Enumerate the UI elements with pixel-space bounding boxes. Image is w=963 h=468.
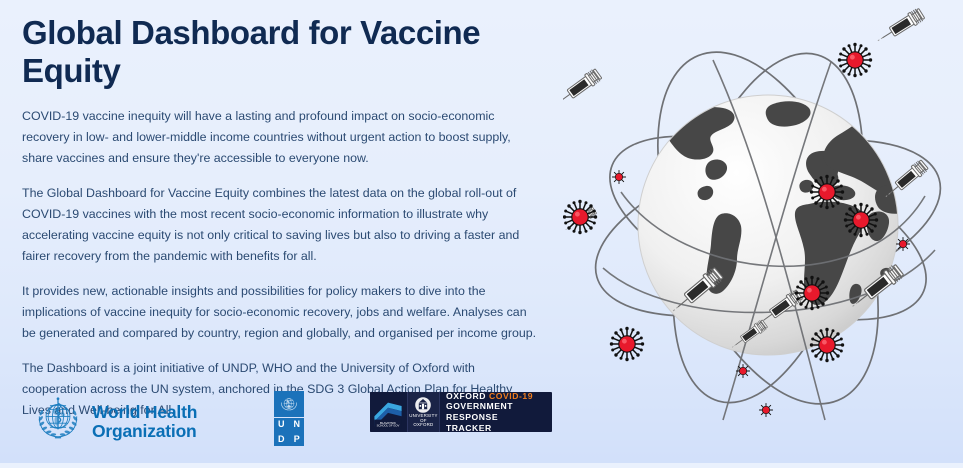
logo-world-health-organization[interactable]: World Health Organization bbox=[32, 393, 197, 450]
oxcgrt-word-response-tracker: RESPONSE TRACKER bbox=[446, 412, 544, 432]
partner-logos: World Health Organization bbox=[22, 389, 552, 453]
who-wordmark-line1: World Health bbox=[92, 403, 197, 422]
virus-icon bbox=[838, 43, 872, 77]
syringe-icon bbox=[563, 68, 603, 111]
who-wordmark-line2: Organization bbox=[92, 422, 197, 441]
un-emblem-icon bbox=[274, 391, 304, 417]
syringe-icon bbox=[872, 7, 925, 48]
undp-logo-box: U N D P bbox=[274, 391, 304, 446]
svg-text:SCHOOL OF GOV: SCHOOL OF GOV bbox=[377, 424, 400, 428]
intro-paragraph-1: COVID-19 vaccine inequity will have a la… bbox=[22, 106, 540, 169]
intro-paragraph-2: The Global Dashboard for Vaccine Equity … bbox=[22, 183, 540, 267]
blavatnik-school-of-government-icon: BLAVATNIK SCHOOL OF GOV bbox=[370, 392, 407, 432]
oxcgrt-word-oxford: OXFORD bbox=[446, 392, 486, 401]
virus-icon bbox=[896, 237, 909, 250]
who-wordmark: World Health Organization bbox=[92, 403, 197, 441]
logo-undp[interactable]: U N D P bbox=[274, 391, 304, 446]
oxcgrt-word-covid19: COVID-19 bbox=[489, 392, 533, 401]
who-emblem-icon bbox=[32, 393, 84, 450]
oxcgrt-strip: BLAVATNIK SCHOOL OF GOV UNIVERSITY OF O bbox=[370, 392, 552, 432]
oxcgrt-wordmark: OXFORD COVID-19 GOVERNMENT RESPONSE TRAC… bbox=[440, 392, 552, 432]
oxford-crest-line2: OXFORD bbox=[413, 423, 433, 427]
virus-icon bbox=[795, 276, 829, 310]
undp-letter-d: D bbox=[274, 433, 289, 447]
virus-icon bbox=[563, 200, 597, 234]
oxford-crest-icon: UNIVERSITY OF OXFORD bbox=[407, 392, 440, 432]
virus-icon bbox=[736, 364, 749, 377]
undp-letter-u: U bbox=[274, 418, 289, 432]
virus-icon bbox=[810, 175, 844, 209]
intro-paragraph-3: It provides new, actionable insights and… bbox=[22, 281, 540, 344]
virus-icon bbox=[612, 170, 625, 183]
promo-panel: Global Dashboard for Vaccine Equity COVI… bbox=[0, 0, 963, 463]
undp-letter-p: P bbox=[290, 433, 305, 447]
page-title: Global Dashboard for Vaccine Equity bbox=[22, 14, 522, 90]
undp-letters: U N D P bbox=[274, 418, 304, 446]
undp-letter-n: N bbox=[290, 418, 305, 432]
virus-icon bbox=[810, 328, 844, 362]
virus-icon bbox=[844, 203, 878, 237]
oxcgrt-word-government: GOVERNMENT bbox=[446, 401, 544, 412]
virus-icon bbox=[759, 403, 772, 416]
globe-illustration bbox=[563, 0, 963, 463]
logo-oxford-covid-government-response-tracker[interactable]: BLAVATNIK SCHOOL OF GOV UNIVERSITY OF O bbox=[370, 392, 552, 432]
globe bbox=[638, 95, 950, 355]
virus-icon bbox=[610, 327, 644, 361]
